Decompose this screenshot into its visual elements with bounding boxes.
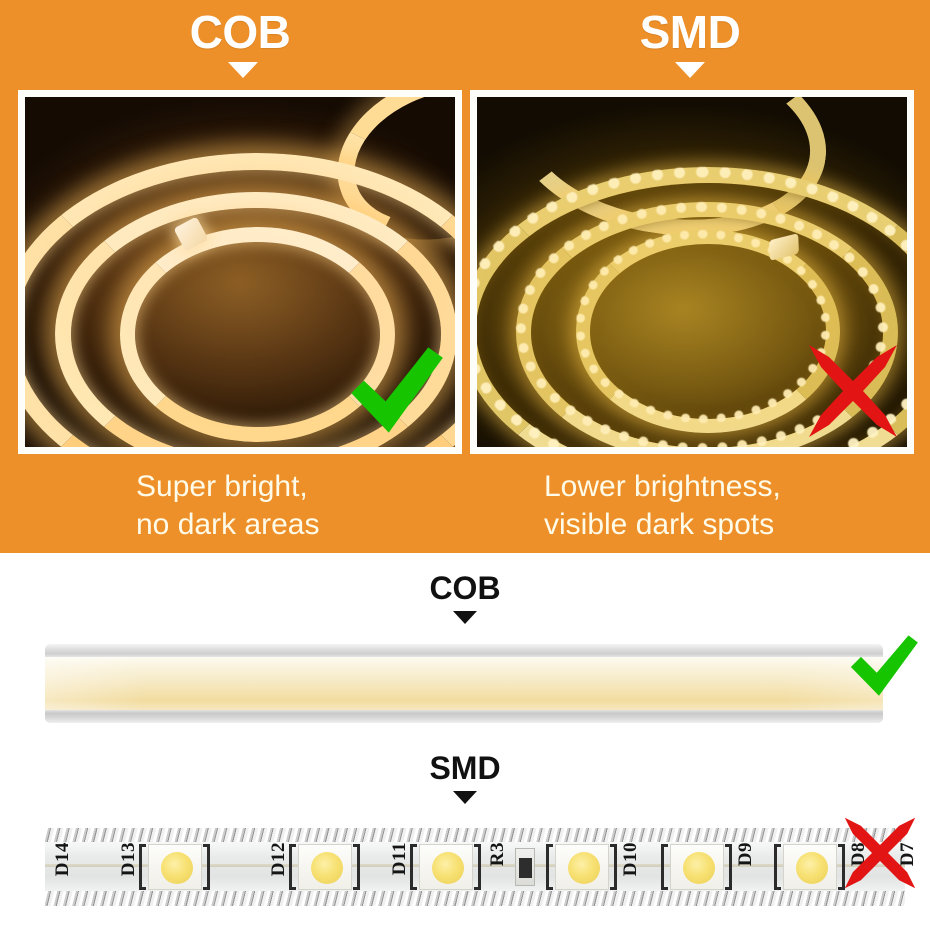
pad-bracket-right: [203, 844, 210, 890]
triangle-down-icon: [453, 611, 477, 624]
cob-strip-light-core: [45, 657, 883, 710]
pad-bracket-right: [725, 844, 732, 890]
triangle-down-icon: [675, 62, 705, 78]
banner-title-cob: COB: [140, 8, 340, 56]
led-chip-d8: [783, 844, 847, 890]
component-label-d14: D14: [53, 842, 72, 876]
closeup-title-cob: COB: [365, 571, 565, 605]
led-emitter: [796, 852, 828, 884]
photo-smd-coil: [470, 90, 914, 454]
led-package: [555, 844, 609, 890]
cob-strip-closeup: [45, 644, 883, 723]
comparison-banner: COB SMD: [0, 0, 930, 553]
led-package: [783, 844, 837, 890]
led-chip-d13: [148, 844, 212, 890]
pad-bracket-left: [289, 844, 296, 890]
smd-strip-closeup: D14 D13 D12 D11 R3: [45, 824, 905, 908]
cob-strip-edge-bottom: [45, 710, 883, 723]
smd-led-dots-inner: [576, 230, 831, 423]
led-emitter: [311, 852, 343, 884]
pad-bracket-left: [139, 844, 146, 890]
check-mark-icon: [341, 339, 449, 443]
smd-strip-sleeve-bottom: [45, 891, 905, 906]
cross-mark-icon: [840, 813, 920, 893]
component-label-d9: D9: [736, 842, 755, 866]
closeup-title-smd: SMD: [365, 751, 565, 785]
led-emitter: [432, 852, 464, 884]
triangle-down-icon: [228, 62, 258, 78]
pad-bracket-right: [610, 844, 617, 890]
led-emitter: [683, 852, 715, 884]
caption-cob: Super bright, no dark areas: [136, 468, 319, 544]
smd-strip-sleeve-top: [45, 828, 905, 843]
led-chip-d12: [298, 844, 362, 890]
photo-cob-coil: [18, 90, 462, 454]
cob-strip-edge-top: [45, 644, 883, 657]
resistor-r3: [515, 848, 535, 886]
led-chip-d10: [555, 844, 619, 890]
pad-bracket-left: [661, 844, 668, 890]
caption-smd: Lower brightness, visible dark spots: [544, 468, 781, 544]
pad-bracket-left: [410, 844, 417, 890]
component-label-d10: D10: [621, 842, 640, 876]
closeup-section: COB SMD D14 D13 D12: [0, 553, 930, 930]
led-package: [298, 844, 352, 890]
banner-title-smd: SMD: [590, 8, 790, 56]
led-chip-d11: [419, 844, 483, 890]
component-label-d13: D13: [119, 842, 138, 876]
component-label-r3: R3: [488, 842, 507, 866]
led-emitter: [568, 852, 600, 884]
pad-bracket-left: [774, 844, 781, 890]
triangle-down-icon: [453, 791, 477, 804]
pad-bracket-left: [546, 844, 553, 890]
cross-mark-icon: [803, 341, 903, 441]
led-package: [419, 844, 473, 890]
led-package: [670, 844, 724, 890]
led-package: [148, 844, 202, 890]
led-chip-d9: [670, 844, 734, 890]
component-label-d12: D12: [269, 842, 288, 876]
led-emitter: [161, 852, 193, 884]
component-label-d11: D11: [390, 842, 409, 875]
pad-bracket-right: [474, 844, 481, 890]
check-mark-icon: [848, 631, 920, 703]
pad-bracket-right: [353, 844, 360, 890]
